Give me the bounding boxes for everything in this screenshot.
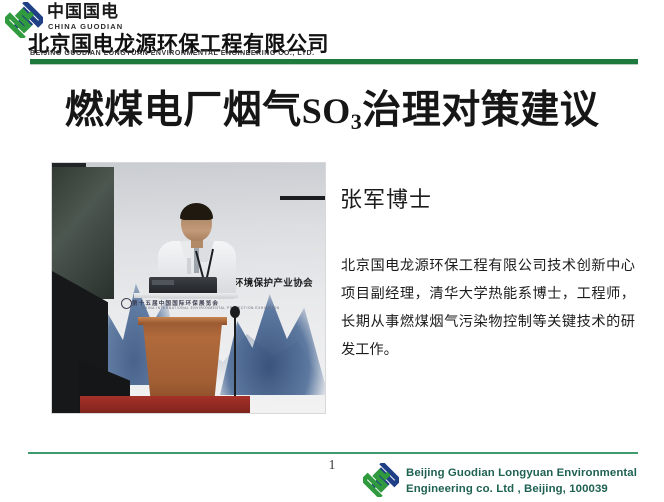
title-chemical-formula: SO3 [302,91,363,131]
header-divider-shadow [30,64,638,65]
chem-subscript: 3 [351,109,363,134]
footer-line-1: Beijing Guodian Longyuan Environmental [406,465,637,481]
company-name-en: BEIJING GUODIAN LONGYUAN ENVIRONMENTAL E… [30,50,315,57]
chem-symbol: SO [302,91,351,131]
speaker-bio: 北京国电龙源环保工程有限公司技术创新中心项目副经理，清华大学热能系博士，工程师，… [341,252,635,364]
photo-desk-edge [134,293,238,298]
brand-name-cn: 中国国电 [47,3,119,21]
speaker-photo: 中国环境保护产业协会 第十五届中国国际环保展览会 CHINA INTERNATI… [52,163,325,413]
photo-speaker-badge [187,258,191,274]
slide-page: 中国国电 CHINA GUODIAN 北京国电龙源环保工程有限公司 BEIJIN… [0,0,664,502]
footer-line-2: Engineering co. Ltd , Beijing, 100039 [406,481,637,497]
page-number: 1 [322,458,342,474]
page-title: 燃煤电厂烟气SO3治理对策建议 [0,79,664,135]
title-suffix: 治理对策建议 [362,88,599,133]
event-emblem-icon [121,298,132,309]
slide-header: 中国国电 CHINA GUODIAN 北京国电龙源环保工程有限公司 BEIJIN… [0,0,664,66]
photo-podium [143,323,222,403]
photo-top-dark-stripe [280,196,325,200]
photo-red-carpet [80,396,250,413]
photo-floor-mic-stand [234,311,236,409]
event-banner-subtitle: CHINA INTERNATIONAL ENVIRONMENTAL PROTEC… [142,306,280,310]
speaker-name: 张军博士 [340,182,432,214]
photo-laptop-keys [152,280,174,285]
title-prefix: 燃煤电厂烟气 [65,88,302,133]
footer-guodian-diamond-logo-icon [363,463,399,497]
footer-divider [28,452,638,454]
footer-company-address: Beijing Guodian Longyuan Environmental E… [406,465,637,497]
